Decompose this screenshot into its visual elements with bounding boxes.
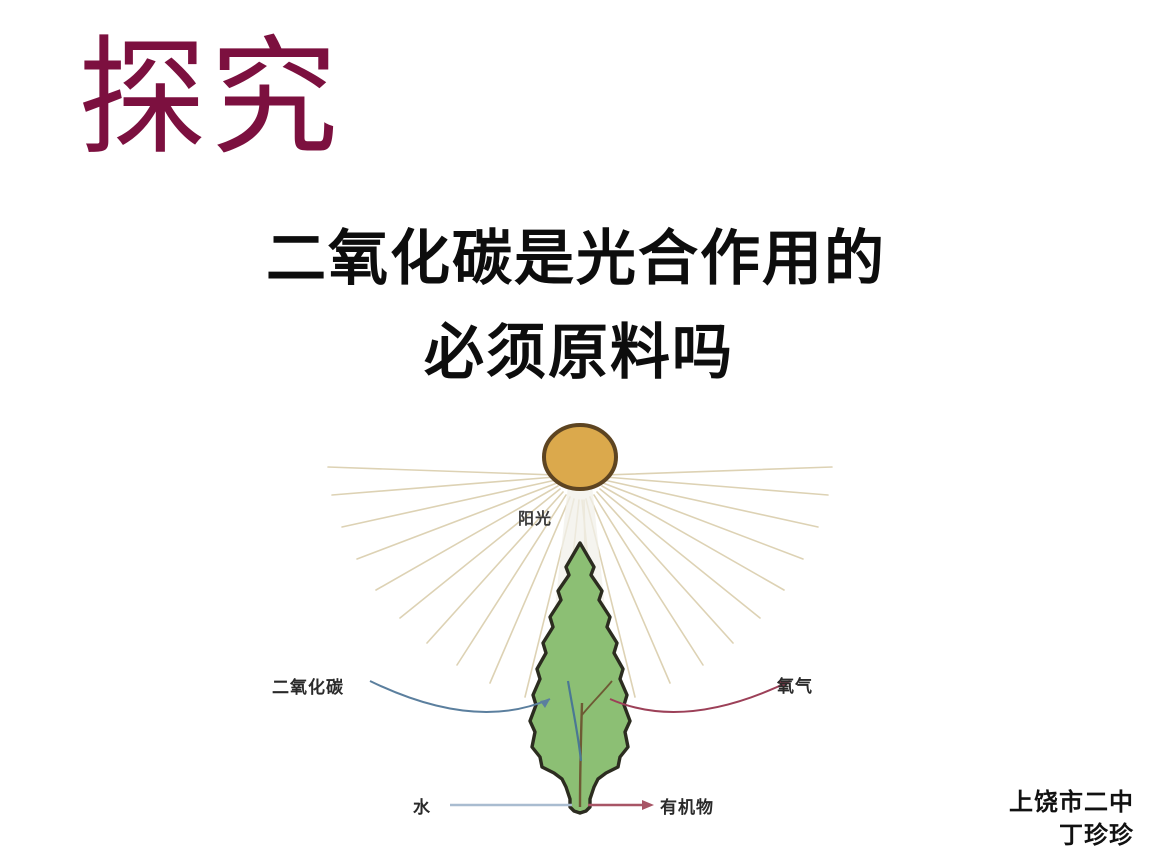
- oxygen-arrow: [610, 681, 790, 712]
- question-line-1: 二氧化碳是光合作用的: [0, 212, 1152, 306]
- signature-author: 丁珍珍: [1009, 819, 1134, 852]
- oxygen-label: 氧气: [777, 672, 813, 697]
- slide-canvas: 探究 二氧化碳是光合作用的 必须原料吗: [0, 0, 1152, 864]
- sunlight-label: 阳光: [518, 505, 552, 529]
- co2-arrow: [370, 681, 550, 712]
- question-line-2: 必须原料吗: [0, 306, 1152, 400]
- diagram-svg: [250, 415, 910, 835]
- signature-block: 上饶市二中 丁珍珍: [1009, 786, 1134, 852]
- photosynthesis-diagram: 阳光 二氧化碳 氧气 水 有机物: [250, 415, 910, 835]
- water-label: 水: [413, 793, 431, 818]
- organic-arrowhead-icon: [642, 800, 654, 810]
- organic-matter-label: 有机物: [660, 793, 714, 818]
- signature-school: 上饶市二中: [1009, 786, 1134, 819]
- question-block: 二氧化碳是光合作用的 必须原料吗: [0, 212, 1152, 400]
- sun-icon: [544, 425, 616, 489]
- carbon-dioxide-label: 二氧化碳: [272, 673, 344, 698]
- page-title: 探究: [78, 26, 342, 173]
